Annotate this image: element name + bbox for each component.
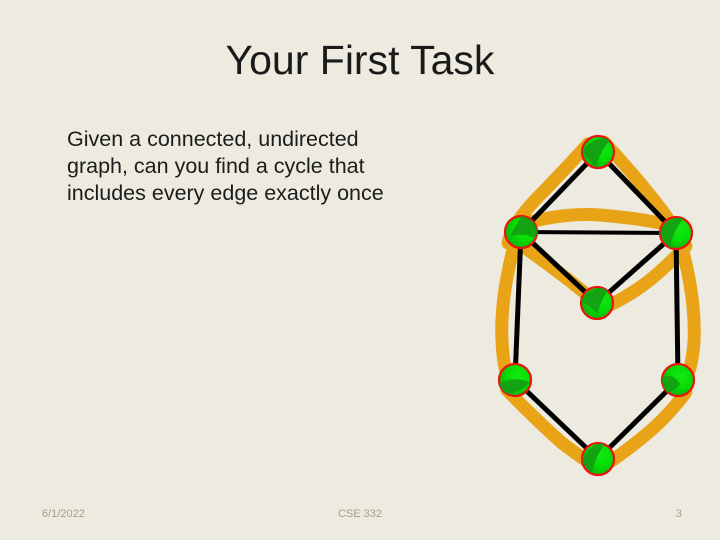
graph-node-bottom-right[interactable] — [662, 364, 694, 396]
slide-canvas: Your First Task Given a connected, undir… — [0, 0, 720, 540]
footer-page-number: 3 — [676, 508, 682, 520]
euler-cycle-graph-figure — [470, 110, 720, 490]
highlight-right-bottomright — [682, 248, 694, 376]
graph-node-bottom-left[interactable] — [499, 364, 531, 396]
highlight-bottom-bottomright — [604, 392, 686, 466]
edge-right-bottomright — [676, 233, 678, 380]
graph-node-bottom[interactable] — [582, 442, 614, 475]
footer-course-label: CSE 332 — [0, 508, 720, 520]
graph-node-left[interactable] — [505, 216, 538, 248]
graph-node-top[interactable] — [582, 136, 614, 168]
graph-svg — [470, 110, 720, 490]
graph-node-right[interactable] — [660, 217, 692, 250]
edge-left-right — [521, 232, 676, 233]
highlight-left-bottomleft — [502, 246, 514, 374]
page-title: Your First Task — [0, 38, 720, 84]
highlight-bottomleft-bottom — [507, 390, 594, 466]
highlight-middle-right — [604, 246, 686, 308]
slide-body-text: Given a connected, undirected graph, can… — [67, 126, 427, 207]
graph-node-middle[interactable] — [581, 287, 613, 319]
